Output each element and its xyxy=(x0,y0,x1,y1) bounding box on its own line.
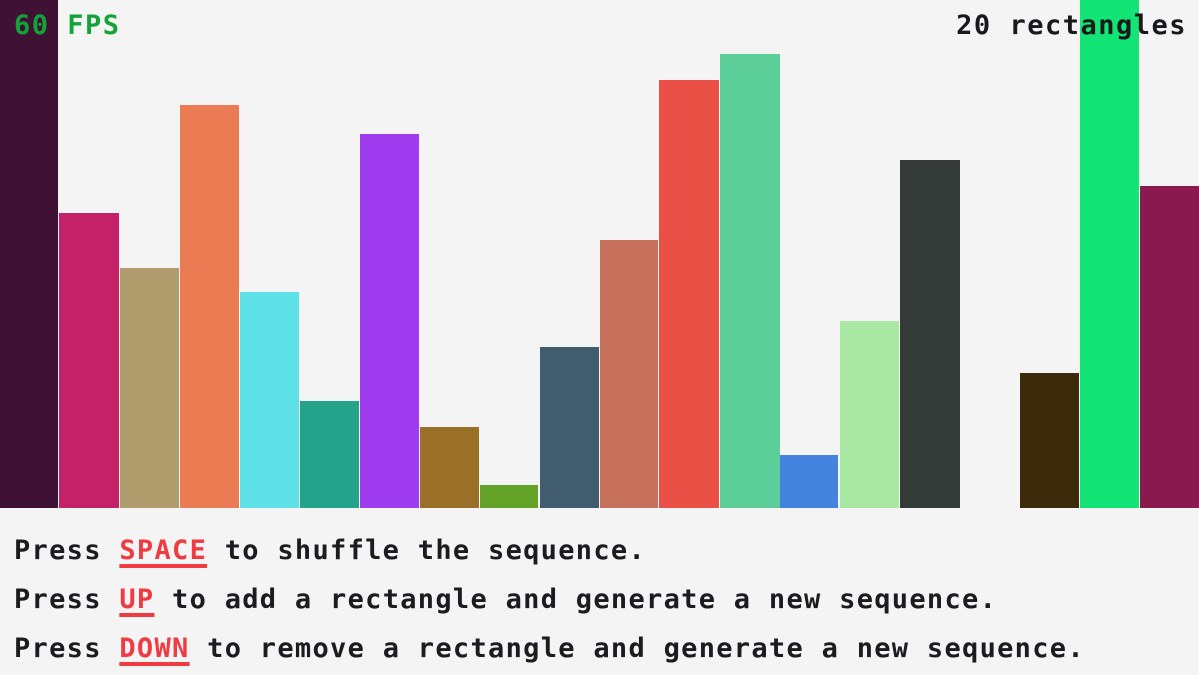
bar-16-charcoal xyxy=(900,160,960,508)
bar-12-red xyxy=(659,80,719,508)
instruction-suffix: to shuffle the sequence. xyxy=(225,535,646,566)
instruction-suffix: to add a rectangle and generate a new se… xyxy=(172,584,997,615)
bar-19-wine xyxy=(1140,186,1199,508)
bar-chart-canvas[interactable] xyxy=(0,0,1199,508)
instruction-prefix: Press xyxy=(14,535,119,566)
bar-5-cyan xyxy=(240,292,299,508)
bar-17-dark-brown xyxy=(1020,373,1079,508)
bar-13-sea-green xyxy=(720,54,780,508)
bar-3-tan xyxy=(120,268,179,508)
bar-10-slate-blue xyxy=(540,347,599,508)
instruction-prefix: Press xyxy=(14,633,119,664)
key-down[interactable]: DOWN xyxy=(119,633,189,664)
bar-18-spring-green xyxy=(1080,0,1139,508)
rectangle-count-label: 20 rectangles xyxy=(956,12,1187,39)
instruction-line-shuffle: Press SPACE to shuffle the sequence. xyxy=(14,526,1199,575)
bar-4-orange xyxy=(180,105,239,508)
rectangle-sequence-demo-window: 60 FPS 20 rectangles Press SPACE to shuf… xyxy=(0,0,1199,675)
bar-9-olive-green xyxy=(480,485,538,508)
instruction-prefix: Press xyxy=(14,584,119,615)
bar-15-light-green xyxy=(840,321,899,508)
bar-11-terracotta xyxy=(600,240,658,508)
bar-2-crimson-pink xyxy=(59,213,119,508)
bar-6-teal xyxy=(300,401,359,508)
fps-counter: 60 FPS xyxy=(14,12,121,39)
bar-8-ochre-brown xyxy=(420,427,479,508)
instruction-line-remove: Press DOWN to remove a rectangle and gen… xyxy=(14,624,1199,673)
bar-1-dark-plum xyxy=(0,0,58,508)
instructions-panel: Press SPACE to shuffle the sequence. Pre… xyxy=(0,508,1199,675)
key-space[interactable]: SPACE xyxy=(119,535,207,566)
instruction-suffix: to remove a rectangle and generate a new… xyxy=(207,633,1085,664)
key-up[interactable]: UP xyxy=(119,584,154,615)
bar-7-purple xyxy=(360,134,419,508)
bar-14-blue xyxy=(780,455,838,508)
instruction-line-add: Press UP to add a rectangle and generate… xyxy=(14,575,1199,624)
